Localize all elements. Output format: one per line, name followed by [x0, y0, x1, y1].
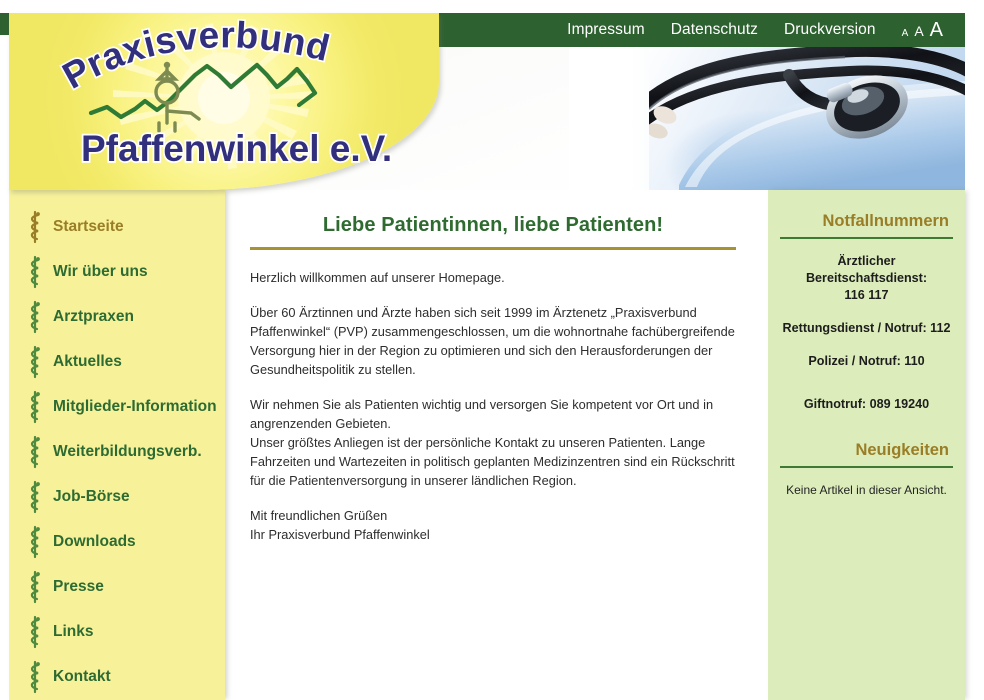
page-title: Liebe Patientinnen, liebe Patienten! — [250, 214, 736, 237]
asclepius-rod-icon — [25, 570, 45, 604]
left-page-edge — [0, 0, 9, 700]
content-signoff-greeting: Mit freundlichen Grüßen — [250, 506, 736, 525]
font-size-medium-button[interactable]: A — [914, 24, 923, 38]
sidebar-item-label: Mitglieder-Information — [53, 398, 217, 416]
news-title-divider — [780, 466, 953, 468]
emergency-title-divider — [780, 237, 953, 239]
sidebar-item-mitglieder-information[interactable]: Mitglieder-Information — [9, 384, 225, 429]
font-size-controls: A A A — [902, 20, 943, 40]
spacer — [780, 304, 953, 320]
news-empty-message: Keine Artikel in dieser Ansicht. — [780, 482, 953, 499]
logo-panel: Praxisverbund Pfaffenwinkel e.V. — [9, 13, 439, 190]
asclepius-rod-icon — [25, 435, 45, 469]
spacer — [780, 370, 953, 396]
asclepius-rod-icon — [25, 210, 45, 244]
content-paragraph-3: Wir nehmen Sie als Patienten wichtig und… — [250, 395, 736, 433]
sidebar-item-kontakt[interactable]: Kontakt — [9, 654, 225, 699]
sidebar-item-label: Kontakt — [53, 668, 111, 686]
emergency-line-aerztlicher: Ärztlicher — [780, 253, 953, 270]
top-nav-links: Impressum Datenschutz Druckversion — [567, 21, 875, 39]
font-size-small-button[interactable]: A — [902, 29, 909, 39]
sidebar-item-wir-ueber-uns[interactable]: Wir über uns — [9, 249, 225, 294]
sidebar-item-label: Wir über uns — [53, 263, 148, 281]
nav-link-druckversion[interactable]: Druckversion — [784, 21, 876, 39]
right-page-edge — [964, 0, 984, 700]
content-paragraph-1: Herzlich willkommen auf unserer Homepage… — [250, 268, 736, 287]
sidebar-item-links[interactable]: Links — [9, 609, 225, 654]
news-section: Neuigkeiten Keine Artikel in dieser Ansi… — [780, 441, 953, 499]
page-root: Praxisverbund Pfaffenwinkel e.V. Impress… — [0, 0, 984, 700]
asclepius-rod-icon — [25, 345, 45, 379]
main-sidebar-navigation: Startseite Wir über uns Arztpraxen — [9, 190, 225, 700]
asclepius-rod-icon — [25, 480, 45, 514]
emergency-line-polizei: Polizei / Notruf: 110 — [780, 353, 953, 370]
content-paragraph-4: Unser größtes Anliegen ist der persönlic… — [250, 433, 736, 490]
asclepius-rod-icon — [25, 300, 45, 334]
sidebar-item-label: Startseite — [53, 218, 124, 236]
asclepius-rod-icon — [25, 660, 45, 694]
nav-link-datenschutz[interactable]: Datenschutz — [671, 21, 758, 39]
logo-graphic: Praxisverbund Pfaffenwinkel e.V. — [9, 13, 439, 190]
news-title: Neuigkeiten — [780, 441, 953, 460]
sidebar-item-label: Job-Börse — [53, 488, 130, 506]
sidebar-item-label: Aktuelles — [53, 353, 122, 371]
font-size-large-button[interactable]: A — [930, 20, 943, 40]
stethoscope-graphic — [649, 35, 965, 190]
emergency-numbers-title: Notfallnummern — [780, 212, 953, 231]
sidebar-item-presse[interactable]: Presse — [9, 564, 225, 609]
sidebar-item-label: Weiterbildungsverb. — [53, 443, 202, 461]
right-sidebar: Notfallnummern Ärztlicher Bereitschaftsd… — [768, 190, 965, 700]
content-signoff-name: Ihr Praxisverbund Pfaffenwinkel — [250, 525, 736, 544]
sidebar-item-weiterbildungsverb[interactable]: Weiterbildungsverb. — [9, 429, 225, 474]
sidebar-item-aktuelles[interactable]: Aktuelles — [9, 339, 225, 384]
left-edge-green-band — [0, 13, 9, 35]
sidebar-item-label: Arztpraxen — [53, 308, 134, 326]
main-content-area: Liebe Patientinnen, liebe Patienten! Her… — [233, 190, 760, 700]
sidebar-item-label: Links — [53, 623, 93, 641]
sidebar-item-label: Presse — [53, 578, 104, 596]
nav-link-impressum[interactable]: Impressum — [567, 21, 645, 39]
content-paragraph-2: Über 60 Ärztinnen und Ärzte haben sich s… — [250, 303, 736, 379]
asclepius-rod-icon — [25, 525, 45, 559]
emergency-line-giftnotruf: Giftnotruf: 089 19240 — [780, 396, 953, 413]
asclepius-rod-icon — [25, 615, 45, 649]
sidebar-item-job-boerse[interactable]: Job-Börse — [9, 474, 225, 519]
spacer — [780, 337, 953, 353]
title-divider — [250, 247, 736, 250]
asclepius-rod-icon — [25, 255, 45, 289]
sidebar-item-downloads[interactable]: Downloads — [9, 519, 225, 564]
sidebar-item-label: Downloads — [53, 533, 136, 551]
sidebar-item-startseite[interactable]: Startseite — [9, 204, 225, 249]
logo-line-1: Praxisverbund — [56, 14, 334, 96]
emergency-line-bereitschaftsdienst: Bereitschaftsdienst: — [780, 270, 953, 287]
banner-stethoscope-photo — [649, 35, 965, 190]
asclepius-rod-icon — [25, 390, 45, 424]
svg-text:Praxisverbund: Praxisverbund — [56, 14, 334, 96]
emergency-number-bereitschaftsdienst: 116 117 — [780, 287, 953, 304]
emergency-line-rettungsdienst: Rettungsdienst / Notruf: 112 — [780, 320, 953, 337]
logo-line-2: Pfaffenwinkel e.V. — [81, 128, 392, 169]
sidebar-item-arztpraxen[interactable]: Arztpraxen — [9, 294, 225, 339]
